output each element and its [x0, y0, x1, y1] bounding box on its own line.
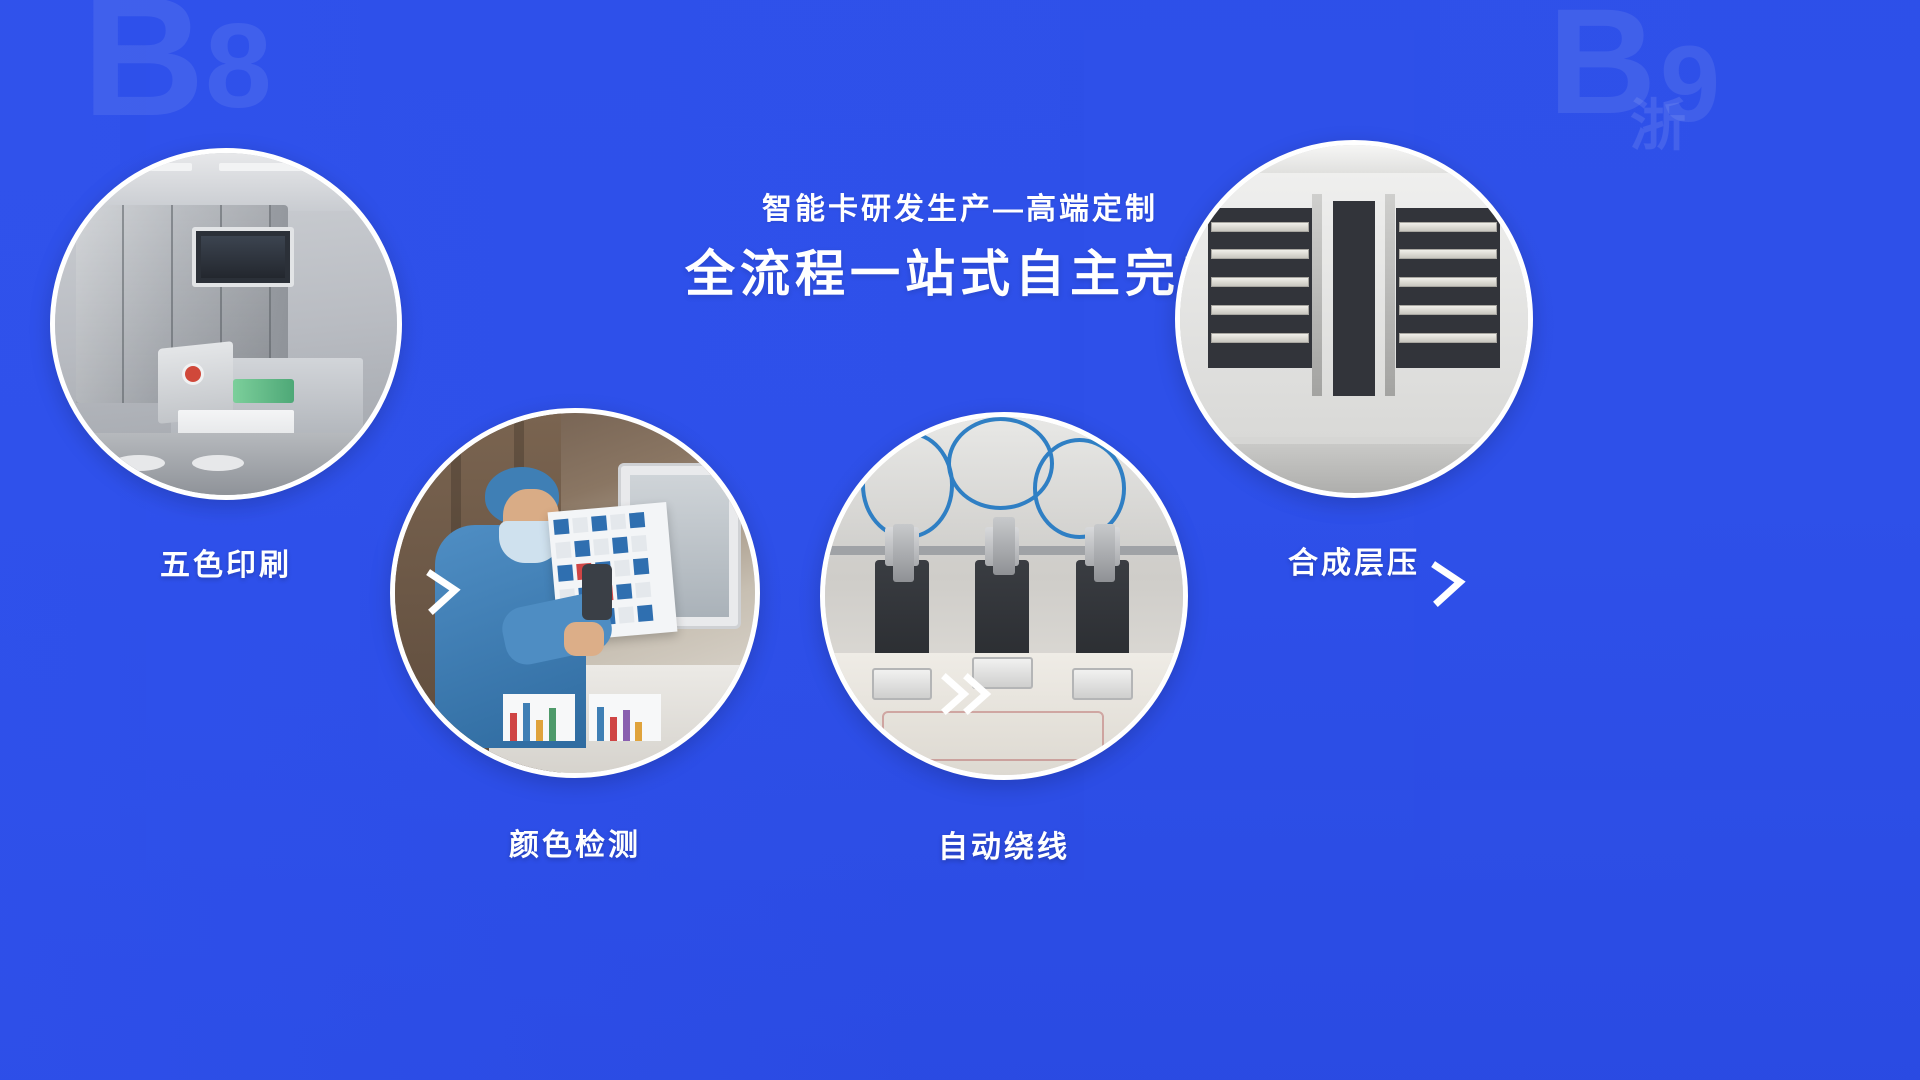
lamination-press-photo [1180, 145, 1528, 493]
process-step-printing[interactable]: 五色印刷 [50, 148, 402, 500]
step-label-lamination: 合成层压 [1288, 538, 1420, 582]
coil-winding-circle[interactable] [820, 412, 1188, 780]
coil-winding-photo [825, 417, 1183, 775]
arrow-color-to-wind-icon [940, 672, 996, 716]
process-step-coil-winding[interactable]: 自动绕线 [820, 412, 1188, 780]
printing-press-photo [55, 153, 397, 495]
step-label-coil-winding: 自动绕线 [938, 822, 1070, 866]
arrow-print-to-color-icon [425, 568, 465, 616]
watermark-number-8: 8 [205, 6, 270, 126]
printing-press-circle[interactable] [50, 148, 402, 500]
arrow-wind-to-lamination-icon [1430, 560, 1470, 608]
watermark-letter-b-left: B [82, 0, 203, 142]
step-label-printing: 五色印刷 [160, 540, 292, 584]
step-label-color-inspection: 颜色检测 [509, 820, 641, 864]
watermark-zhe: 浙 [1630, 98, 1684, 154]
process-step-lamination[interactable]: 合成层压 [1175, 140, 1533, 498]
lamination-press-circle[interactable] [1175, 140, 1533, 498]
